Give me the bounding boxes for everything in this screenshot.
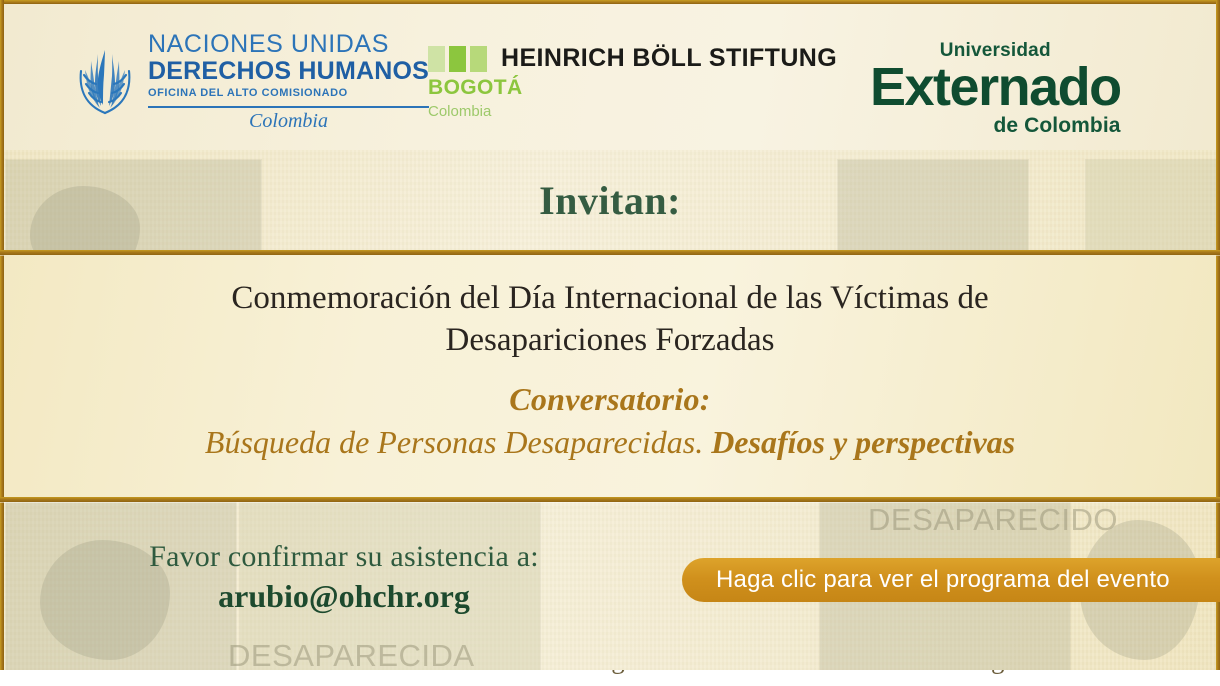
invitan-label: Invitan: xyxy=(539,177,681,224)
clipped-text-3: 25 de agosto xyxy=(913,670,1049,675)
hbs-logo-city: BOGOTÁ xyxy=(428,76,523,100)
event-subtitle-line: Búsqueda de Personas Desaparecidas. Desa… xyxy=(205,424,1015,461)
rsvp-email[interactable]: arubio@ohchr.org xyxy=(114,578,574,615)
un-logo-line4: Colombia xyxy=(148,111,429,131)
hbs-square-1 xyxy=(428,46,445,72)
logo-heinrich-boll-stiftung: HEINRICH BÖLL STIFTUNG BOGOTÁ Colombia xyxy=(428,44,837,120)
un-logo-line3: OFICINA DEL ALTO COMISIONADO xyxy=(148,88,429,99)
clipped-text-2: Fecha: Miércoles xyxy=(685,670,872,675)
externado-logo-line3: de Colombia xyxy=(993,114,1120,138)
hbs-square-2 xyxy=(449,46,466,72)
un-emblem-icon xyxy=(72,45,138,119)
clipped-bottom-text: Instituto Colombiano de Medicina Legal F… xyxy=(0,670,1220,675)
un-logo-line2: DERECHOS HUMANOS xyxy=(148,59,429,84)
un-logo-divider xyxy=(148,106,429,108)
logo-un-human-rights: NACIONES UNIDAS DERECHOS HUMANOS OFICINA… xyxy=(72,32,429,131)
clipped-text-1: de Medicina Legal xyxy=(442,670,644,675)
rsvp-section: Favor confirmar su asistencia a: arubio@… xyxy=(4,502,1216,670)
hbs-squares-icon xyxy=(428,46,487,72)
sponsor-logo-header: NACIONES UNIDAS DERECHOS HUMANOS OFICINA… xyxy=(4,4,1216,150)
clipped-text-0: Instituto Colombiano xyxy=(171,670,401,675)
view-program-button[interactable]: Haga clic para ver el programa del event… xyxy=(682,558,1220,602)
logo-universidad-externado: Universidad Externado de Colombia xyxy=(870,40,1121,138)
bottom-clipped-strip: Instituto Colombiano de Medicina Legal F… xyxy=(0,670,1220,686)
rsvp-prompt: Favor confirmar su asistencia a: xyxy=(114,540,574,574)
event-title-line2: Desapariciones Forzadas xyxy=(446,319,775,361)
event-subtitle-kicker: Conversatorio: xyxy=(509,381,711,418)
view-program-button-label: Haga clic para ver el programa del event… xyxy=(716,566,1170,594)
hbs-logo-country: Colombia xyxy=(428,103,491,120)
externado-logo-line2: Externado xyxy=(870,62,1121,113)
event-title-section: Conmemoración del Día Internacional de l… xyxy=(4,255,1216,497)
un-logo-wordmark: NACIONES UNIDAS DERECHOS HUMANOS OFICINA… xyxy=(148,32,429,131)
rsvp-block: Favor confirmar su asistencia a: arubio@… xyxy=(114,540,574,615)
un-logo-line1: NACIONES UNIDAS xyxy=(148,32,429,57)
invitan-section: Invitan: xyxy=(4,150,1216,250)
event-title-line1: Conmemoración del Día Internacional de l… xyxy=(231,277,988,319)
hbs-square-3 xyxy=(470,46,487,72)
event-subtitle-regular: Búsqueda de Personas Desaparecidas. xyxy=(205,424,703,460)
hbs-logo-top-row: HEINRICH BÖLL STIFTUNG xyxy=(428,44,837,73)
hbs-logo-title: HEINRICH BÖLL STIFTUNG xyxy=(501,44,837,73)
event-invitation-poster: DESAPARECIDO DESAPARECIDA xyxy=(0,0,1220,686)
event-subtitle-bold: Desafíos y perspectivas xyxy=(711,424,1015,460)
